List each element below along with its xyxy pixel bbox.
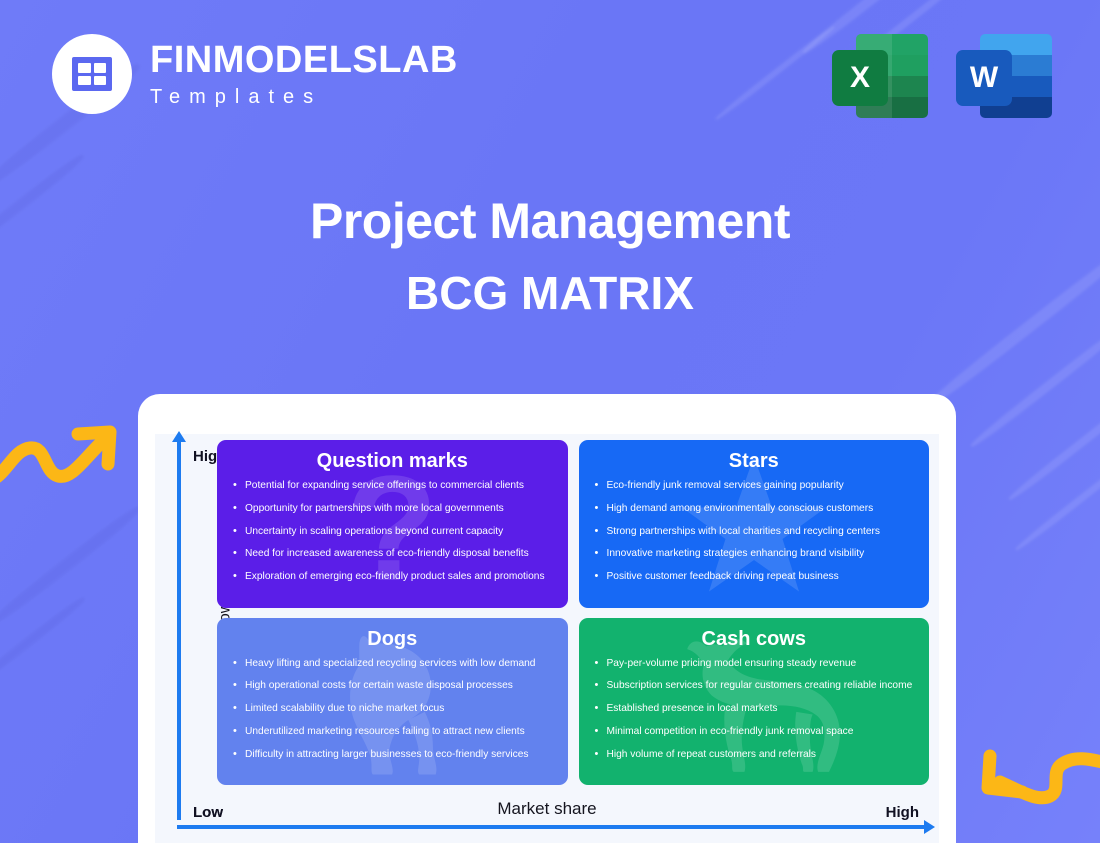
word-letter: W <box>956 50 1012 106</box>
list-item: Established presence in local markets <box>593 703 916 716</box>
title-block: Project Management BCG MATRIX <box>0 192 1100 320</box>
list-item: Minimal competition in eco-friendly junk… <box>593 726 916 739</box>
quadrant-title: Cash cows <box>593 628 916 651</box>
list-item: Innovative marketing strategies enhancin… <box>593 548 916 561</box>
quadrant-bullet-list: Pay-per-volume pricing model ensuring st… <box>593 658 916 762</box>
quadrant-grid: ? Question marks Potential for expanding… <box>217 440 929 785</box>
list-item: Subscription services for regular custom… <box>593 680 916 693</box>
quadrant-question-marks[interactable]: ? Question marks Potential for expanding… <box>217 440 568 608</box>
list-item: Underutilized marketing resources failin… <box>231 726 554 739</box>
list-item: Pay-per-volume pricing model ensuring st… <box>593 658 916 671</box>
list-item: High operational costs for certain waste… <box>231 680 554 693</box>
list-item: Heavy lifting and specialized recycling … <box>231 658 554 671</box>
matrix-plot-area: High Low Market growth Market share High… <box>155 434 939 843</box>
quadrant-title: Dogs <box>231 628 554 651</box>
brand-name: FINMODELSLAB <box>150 41 458 79</box>
list-item: High volume of repeat customers and refe… <box>593 749 916 762</box>
squiggly-arrow-up-right-icon <box>0 406 124 498</box>
list-item: Limited scalability due to niche market … <box>231 703 554 716</box>
list-item: Need for increased awareness of eco-frie… <box>231 548 554 561</box>
x-axis-arrow <box>177 825 925 829</box>
page-subtitle: BCG MATRIX <box>0 266 1100 320</box>
excel-letter: X <box>832 50 888 106</box>
list-item: Exploration of emerging eco-friendly pro… <box>231 571 554 584</box>
y-axis-arrow <box>177 440 181 820</box>
quadrant-bullet-list: Heavy lifting and specialized recycling … <box>231 658 554 762</box>
list-item: Opportunity for partnerships with more l… <box>231 503 554 516</box>
grid-icon <box>72 57 112 91</box>
brand-logo: FINMODELSLAB Templates <box>52 34 458 114</box>
list-item: High demand among environmentally consci… <box>593 503 916 516</box>
list-item: Positive customer feedback driving repea… <box>593 571 916 584</box>
file-format-badges: X W <box>832 28 1052 124</box>
logo-circle <box>52 34 132 114</box>
x-axis-high-label: High <box>886 804 919 821</box>
list-item: Strong partnerships with local charities… <box>593 526 916 539</box>
word-icon[interactable]: W <box>956 28 1052 124</box>
quadrant-dogs[interactable]: Dogs Heavy lifting and specialized recyc… <box>217 618 568 786</box>
brand-tagline: Templates <box>150 87 458 107</box>
x-axis-low-label: Low <box>193 804 223 821</box>
list-item: Uncertainty in scaling operations beyond… <box>231 526 554 539</box>
quadrant-cash-cows[interactable]: Cash cows Pay-per-volume pricing model e… <box>579 618 930 786</box>
page-title: Project Management <box>0 192 1100 250</box>
quadrant-bullet-list: Potential for expanding service offering… <box>231 480 554 584</box>
bcg-matrix-card: High Low Market growth Market share High… <box>138 394 956 843</box>
quadrant-stars[interactable]: Stars Eco-friendly junk removal services… <box>579 440 930 608</box>
quadrant-title: Question marks <box>231 450 554 473</box>
list-item: Potential for expanding service offering… <box>231 480 554 493</box>
list-item: Difficulty in attracting larger business… <box>231 749 554 762</box>
x-axis-label: Market share <box>155 799 939 819</box>
squiggly-arrow-down-left-icon <box>966 742 1100 838</box>
quadrant-bullet-list: Eco-friendly junk removal services gaini… <box>593 480 916 584</box>
quadrant-title: Stars <box>593 450 916 473</box>
slide-canvas: FINMODELSLAB Templates X W Project Manag… <box>0 0 1100 843</box>
excel-icon[interactable]: X <box>832 28 928 124</box>
list-item: Eco-friendly junk removal services gaini… <box>593 480 916 493</box>
